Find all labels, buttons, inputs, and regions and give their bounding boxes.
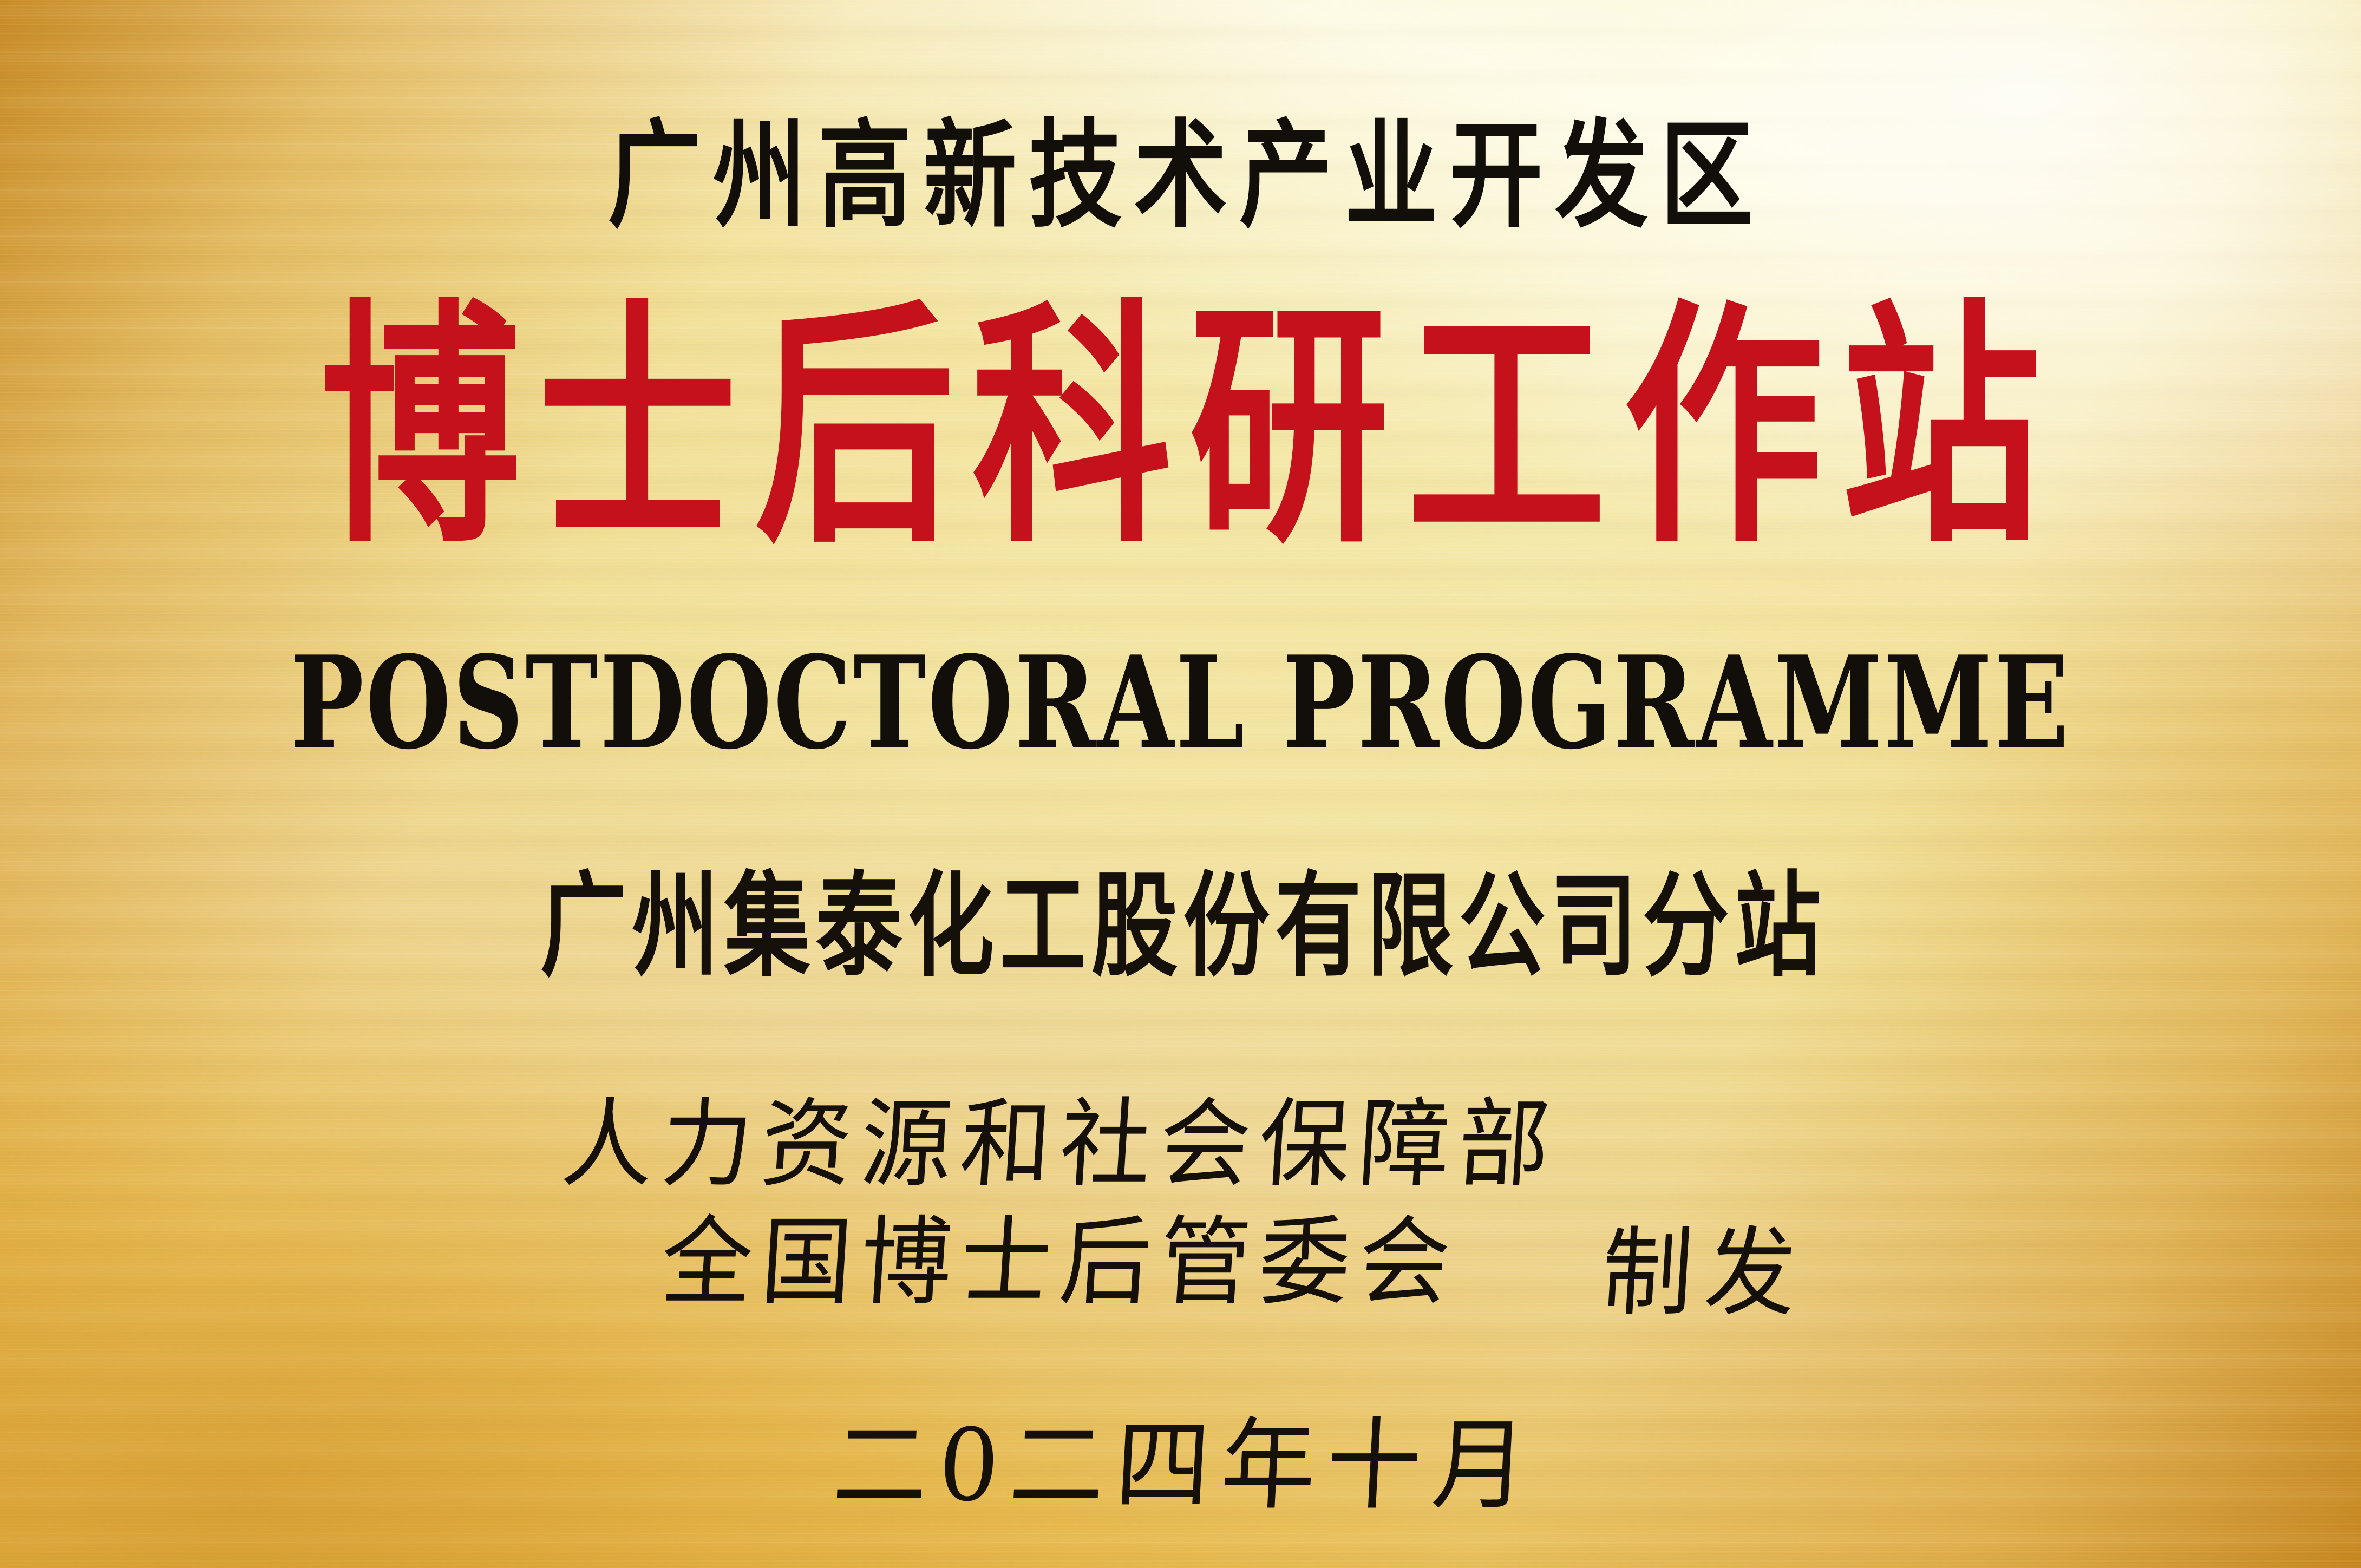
main-title-red: 博士后科研工作站 (142, 299, 2220, 556)
company-branch-line: 广州集泰化工股份有限公司分站 (189, 834, 2172, 998)
issue-date-line: 二0二四年十月 (0, 1385, 2361, 1529)
award-plaque: 广州高新技术产业开发区 博士后科研工作站 POSTDOCTORAL PROGRA… (0, 0, 2361, 1568)
issuing-authority-block: 人力资源和社会保障部 全国博士后管委会 制发 (0, 1085, 2361, 1330)
issuing-authority-line-1: 人力资源和社会保障部 (549, 1081, 1561, 1206)
development-zone-line: 广州高新技术产业开发区 (236, 81, 2125, 250)
plaque-content: 广州高新技术产业开发区 博士后科研工作站 POSTDOCTORAL PROGRA… (0, 0, 2361, 1568)
english-title: POSTDOCTORAL PROGRAMME (165, 628, 2195, 778)
issuing-authority-names: 人力资源和社会保障部 全国博士后管委会 (553, 1085, 1558, 1322)
issued-by-suffix: 制发 (1586, 1195, 1813, 1335)
issuing-authority-line-2: 全国博士后管委会 (649, 1200, 1462, 1325)
